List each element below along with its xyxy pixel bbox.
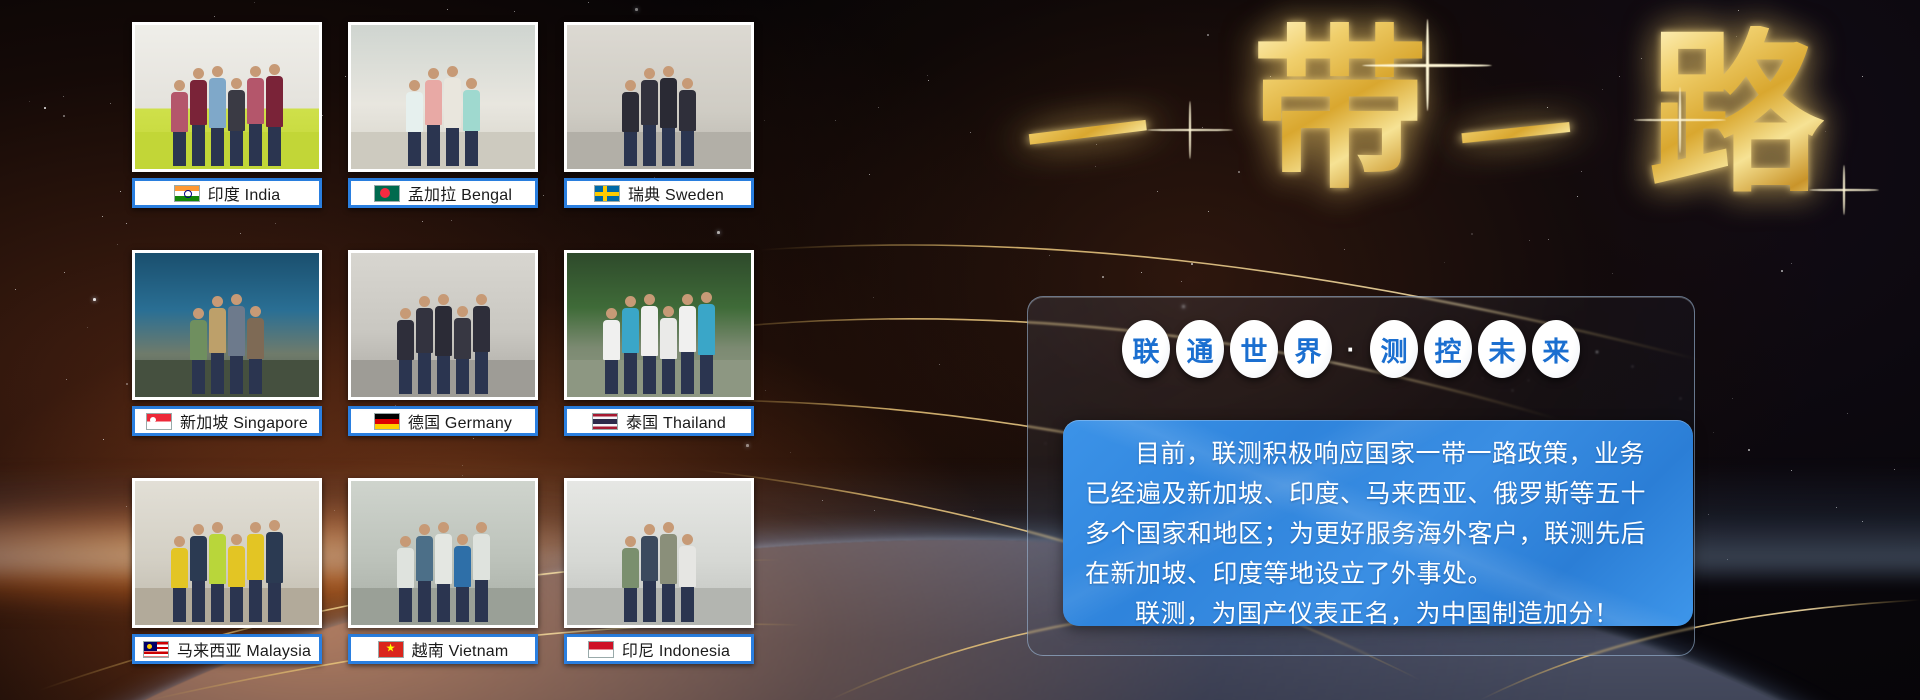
info-blue-box: 目前，联测积极响应国家一带一路政策，业务已经遍及新加坡、印度、马来西亚、俄罗斯等… [1063, 420, 1693, 626]
country-photo [132, 250, 322, 400]
star [1713, 432, 1714, 433]
person-figure [228, 78, 245, 166]
star [117, 244, 118, 245]
thailand-flag [592, 413, 618, 430]
country-label: 马来西亚 Malaysia [177, 637, 311, 661]
country-card-india[interactable]: 印度 India [132, 22, 322, 218]
person-figure [641, 294, 658, 394]
people-group [142, 64, 311, 166]
country-photo [348, 478, 538, 628]
person-figure [622, 80, 639, 166]
person-figure [209, 296, 226, 394]
star [1141, 272, 1142, 273]
star [447, 9, 448, 10]
star [927, 75, 928, 76]
star [970, 132, 971, 133]
star [126, 223, 127, 224]
person-figure [416, 296, 433, 394]
star [1748, 449, 1750, 451]
person-figure [228, 534, 245, 622]
vietnam-flag [378, 641, 404, 658]
country-card-indonesia[interactable]: 印尼 Indonesia [564, 478, 754, 674]
star [15, 289, 16, 290]
star [44, 107, 46, 109]
country-caption: 瑞典 Sweden [564, 178, 754, 208]
star [1049, 255, 1050, 256]
country-caption: 孟加拉 Bengal [348, 178, 538, 208]
country-caption: 新加坡 Singapore [132, 406, 322, 436]
slogan-char: 测 [1370, 320, 1418, 378]
star [928, 80, 929, 81]
country-label: 印尼 Indonesia [622, 637, 730, 661]
person-figure [679, 78, 696, 166]
star [64, 272, 65, 273]
person-figure [679, 294, 696, 394]
calligraphy-char-yi-1: 一 [1021, 83, 1156, 189]
slogan-separator: · [1338, 320, 1364, 378]
country-label: 越南 Vietnam [412, 637, 509, 661]
person-figure [190, 308, 207, 394]
country-photo [564, 478, 754, 628]
country-card-malaysia[interactable]: 马来西亚 Malaysia [132, 478, 322, 674]
country-photo-grid: 印度 India孟加拉 Bengal瑞典 Sweden新加坡 Singapore… [132, 22, 772, 682]
country-photo [564, 250, 754, 400]
star [87, 327, 88, 328]
star [1191, 263, 1193, 265]
star [1181, 281, 1182, 282]
person-figure [473, 522, 490, 622]
people-group [358, 522, 527, 622]
star [1781, 270, 1783, 272]
person-figure [247, 522, 264, 622]
country-photo [132, 478, 322, 628]
country-card-sweden[interactable]: 瑞典 Sweden [564, 22, 754, 218]
slogan-char: 联 [1122, 320, 1170, 378]
person-figure [397, 308, 414, 394]
info-line: 已经遍及新加坡、印度、马来西亚、俄罗斯等五十 [1085, 474, 1671, 514]
star [93, 298, 96, 301]
info-line: 在新加坡、印度等地设立了外事处。 [1085, 554, 1671, 594]
country-caption: 越南 Vietnam [348, 634, 538, 664]
star [63, 96, 64, 97]
person-figure [247, 66, 264, 166]
person-figure [660, 306, 677, 394]
star [1847, 413, 1848, 414]
person-figure [435, 522, 452, 622]
country-label: 印度 India [208, 181, 281, 205]
country-card-vietnam[interactable]: 越南 Vietnam [348, 478, 538, 674]
people-group [574, 66, 743, 166]
star [1612, 273, 1613, 274]
country-caption: 马来西亚 Malaysia [132, 634, 322, 664]
people-group [574, 292, 743, 394]
star [869, 174, 870, 175]
person-figure [247, 306, 264, 394]
star [254, 2, 255, 3]
country-photo [564, 22, 754, 172]
person-figure [406, 80, 423, 166]
country-label: 泰国 Thailand [626, 409, 726, 433]
country-label: 新加坡 Singapore [180, 409, 308, 433]
star [66, 379, 67, 380]
country-photo [348, 22, 538, 172]
people-group [358, 66, 527, 166]
slogan-char: 未 [1478, 320, 1526, 378]
person-figure [171, 80, 188, 166]
star [102, 216, 103, 217]
person-figure [603, 308, 620, 394]
person-figure [435, 294, 452, 394]
person-figure [266, 64, 283, 166]
malaysia-flag [143, 641, 169, 658]
india-flag [174, 185, 200, 202]
person-figure [473, 294, 490, 394]
country-card-bengal[interactable]: 孟加拉 Bengal [348, 22, 538, 218]
info-line: 多个国家和地区；为更好服务海外客户，联测先后 [1085, 514, 1671, 554]
slogan-char: 来 [1532, 320, 1580, 378]
calligraphy-title: 一 带 一 路 [1020, 10, 1900, 240]
star [1344, 249, 1345, 250]
star [588, 2, 589, 3]
people-group [142, 520, 311, 622]
star [1732, 398, 1733, 399]
star [126, 383, 128, 385]
country-label: 瑞典 Sweden [628, 181, 724, 205]
country-caption: 印度 India [132, 178, 322, 208]
singapore-flag [146, 413, 172, 430]
person-figure [660, 522, 677, 622]
people-group [574, 522, 743, 622]
person-figure [444, 66, 461, 166]
person-figure [397, 536, 414, 622]
slogan-char: 界 [1284, 320, 1332, 378]
country-photo [348, 250, 538, 400]
person-figure [190, 68, 207, 166]
person-figure [454, 306, 471, 394]
person-figure [641, 68, 658, 166]
country-caption: 泰国 Thailand [564, 406, 754, 436]
star [214, 16, 215, 17]
person-figure [416, 524, 433, 622]
person-figure [622, 536, 639, 622]
country-photo [132, 22, 322, 172]
country-card-singapore[interactable]: 新加坡 Singapore [132, 250, 322, 446]
star [878, 107, 879, 108]
sweden-flag [594, 185, 620, 202]
person-figure [171, 536, 188, 622]
star [63, 115, 65, 117]
info-line: 目前，联测积极响应国家一带一路政策，业务 [1085, 434, 1671, 474]
star [1102, 276, 1104, 278]
country-label: 德国 Germany [408, 409, 512, 433]
slogan-char: 通 [1176, 320, 1224, 378]
calligraphy-char-yi-2: 一 [1455, 86, 1578, 185]
star [635, 8, 638, 11]
person-figure [454, 534, 471, 622]
star [1529, 240, 1530, 241]
slogan-row: 联通世界·测控未来 [1122, 320, 1580, 378]
person-figure [463, 78, 480, 166]
info-line: 联测，为国产仪表正名，为中国制造加分！ [1085, 594, 1671, 626]
person-figure [209, 522, 226, 622]
people-group [142, 294, 311, 394]
person-figure [425, 68, 442, 166]
person-figure [679, 534, 696, 622]
star [1444, 262, 1445, 263]
star [835, 120, 836, 121]
person-figure [190, 524, 207, 622]
person-figure [209, 66, 226, 166]
country-caption: 印尼 Indonesia [564, 634, 754, 664]
calligraphy-char-dai: 带 [1252, 22, 1428, 198]
person-figure [228, 294, 245, 394]
star [1791, 263, 1792, 264]
person-figure [641, 524, 658, 622]
star [939, 364, 940, 365]
person-figure [266, 520, 283, 622]
bengal-flag [374, 185, 400, 202]
person-figure [622, 296, 639, 394]
person-figure [698, 292, 715, 394]
country-card-thailand[interactable]: 泰国 Thailand [564, 250, 754, 446]
country-label: 孟加拉 Bengal [408, 181, 512, 205]
person-figure [660, 66, 677, 166]
star [120, 191, 121, 192]
slogan-char: 控 [1424, 320, 1472, 378]
slogan-char: 世 [1230, 320, 1278, 378]
calligraphy-char-lu: 路 [1648, 26, 1824, 202]
country-card-germany[interactable]: 德国 Germany [348, 250, 538, 446]
country-caption: 德国 Germany [348, 406, 538, 436]
star [29, 101, 30, 102]
star [110, 103, 111, 104]
star [873, 297, 874, 298]
banner-stage: 一 带 一 路 印度 India孟加拉 Bengal瑞典 Sweden新加坡 S… [0, 0, 1920, 700]
people-group [358, 294, 527, 394]
indonesia-flag [588, 641, 614, 658]
germany-flag [374, 413, 400, 430]
star [514, 11, 515, 12]
